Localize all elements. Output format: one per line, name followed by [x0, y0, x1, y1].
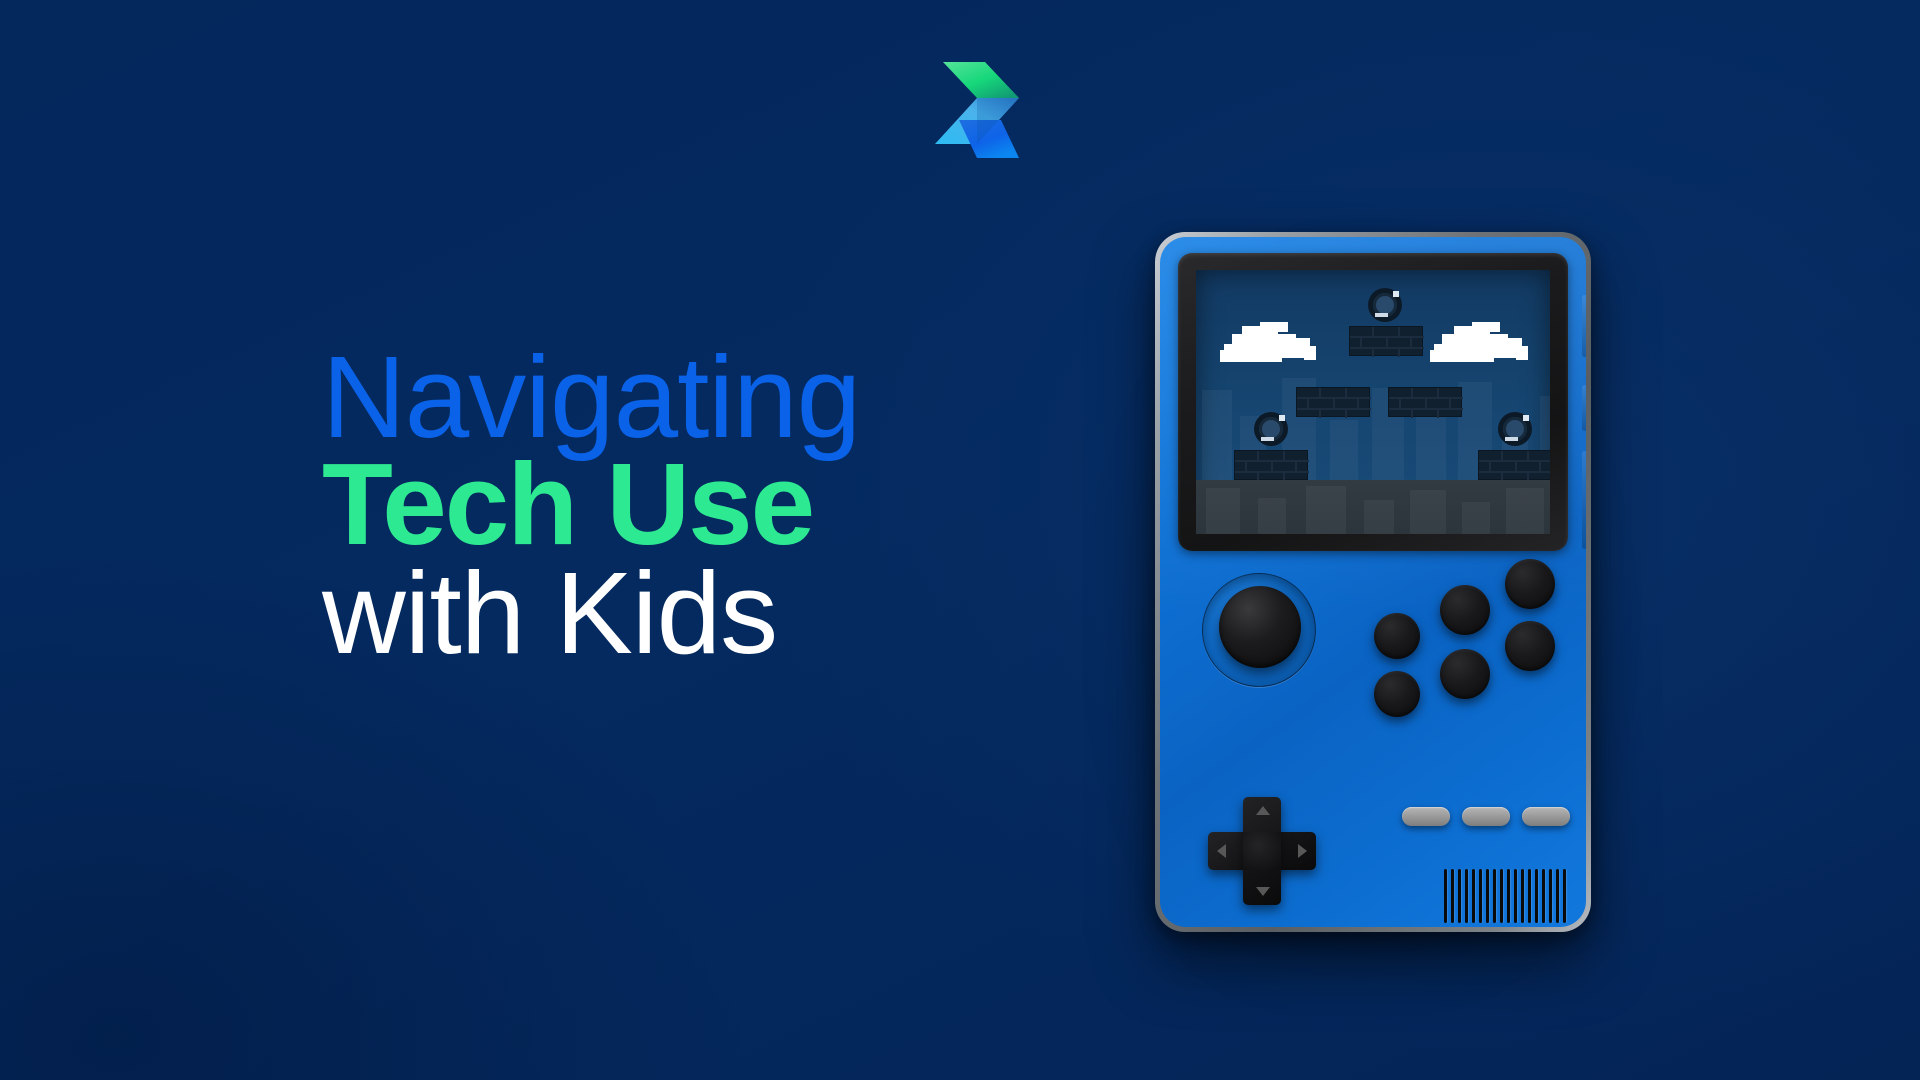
screen-bezel: [1178, 253, 1568, 551]
chevron-logo: [925, 52, 1035, 167]
side-nub-mid: [1582, 385, 1586, 431]
headline-line-2: Tech Use: [322, 447, 1082, 562]
brick-block: [1349, 326, 1423, 356]
brick-block: [1234, 450, 1308, 480]
game-ground: [1196, 480, 1550, 534]
pill-button-1[interactable]: [1402, 807, 1450, 826]
pill-button-2[interactable]: [1462, 807, 1510, 826]
dpad[interactable]: [1208, 797, 1316, 905]
dpad-right-icon[interactable]: [1298, 844, 1307, 858]
dpad-down-icon[interactable]: [1256, 887, 1270, 896]
poster-background: Navigating Tech Use with Kids: [0, 0, 1920, 1080]
coin-sprite: [1254, 412, 1288, 446]
brick-block: [1296, 387, 1370, 417]
face-button-6[interactable]: [1505, 621, 1555, 671]
pill-button-3[interactable]: [1522, 807, 1570, 826]
headline-line-1: Navigating: [322, 340, 1082, 455]
cloud-sprite: [1220, 322, 1316, 366]
analog-stick-cap[interactable]: [1219, 586, 1301, 668]
face-button-4[interactable]: [1440, 649, 1490, 699]
headline: Navigating Tech Use with Kids: [322, 340, 1082, 670]
coin-sprite: [1498, 412, 1532, 446]
headline-line-3: with Kids: [322, 556, 1082, 671]
face-button-3[interactable]: [1440, 585, 1490, 635]
dpad-hub: [1243, 832, 1281, 870]
chevron-logo-svg: [925, 52, 1035, 167]
side-nub-top: [1582, 295, 1586, 357]
face-button-5[interactable]: [1505, 559, 1555, 609]
speaker-grille: [1444, 869, 1562, 923]
side-nub-bottom: [1582, 451, 1586, 549]
coin-sprite: [1368, 288, 1402, 322]
console-body: [1160, 237, 1586, 927]
handheld-game-console: [1155, 232, 1591, 932]
brick-block: [1478, 450, 1550, 480]
face-button-2[interactable]: [1374, 671, 1420, 717]
dpad-left-icon[interactable]: [1217, 844, 1226, 858]
dpad-up-icon[interactable]: [1256, 806, 1270, 815]
game-screen: [1196, 270, 1550, 534]
analog-stick[interactable]: [1202, 573, 1316, 687]
cloud-sprite: [1428, 322, 1528, 368]
brick-block: [1388, 387, 1462, 417]
face-button-1[interactable]: [1374, 613, 1420, 659]
